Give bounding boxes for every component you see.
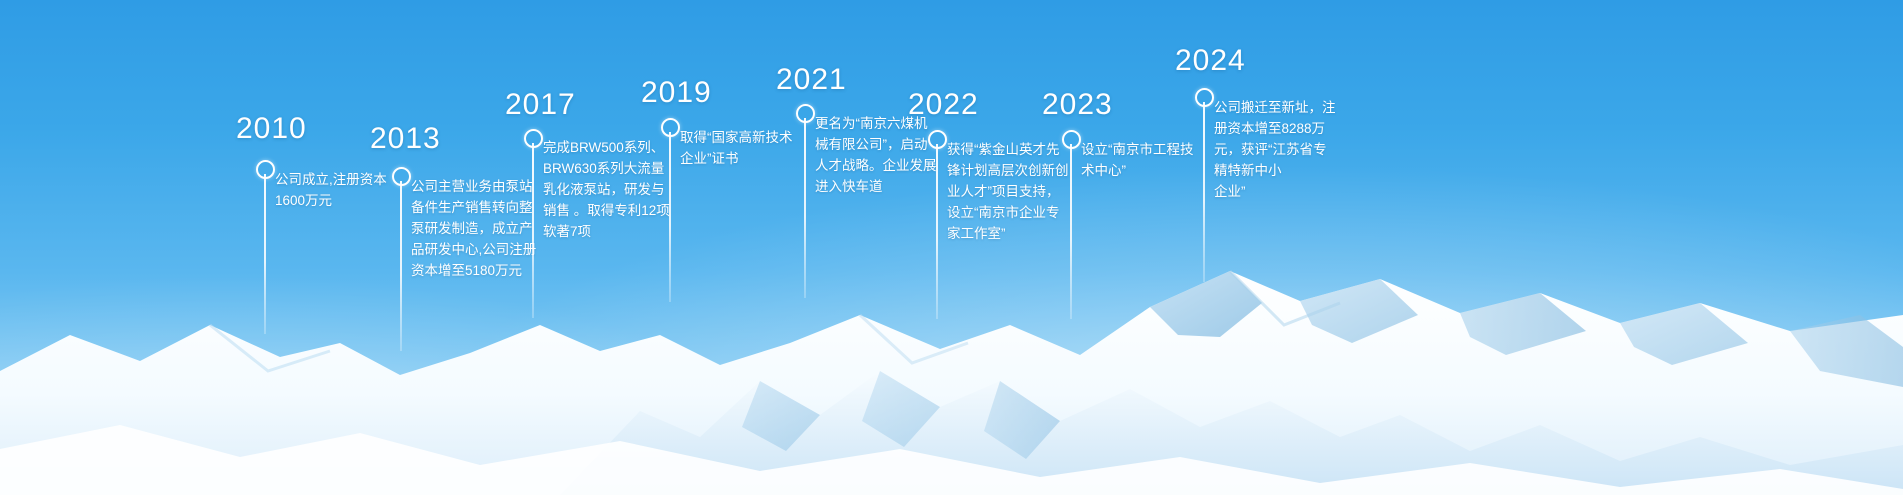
timeline-stem-line — [1070, 144, 1072, 319]
timeline-node-circle-icon[interactable] — [392, 167, 411, 186]
timeline-node-circle-icon[interactable] — [256, 160, 275, 179]
timeline-infographic: 2010公司成立,注册资本 1600万元2013公司主营业务由泵站 备件生产销售… — [0, 0, 1903, 495]
timeline-description: 取得“国家高新技术 企业”证书 — [680, 127, 810, 169]
timeline-year-label: 2017 — [505, 88, 576, 122]
timeline-description: 公司搬迁至新址，注 册资本增至8288万 元，获评“江苏省专 精特新中小 企业” — [1214, 97, 1354, 202]
timeline-year-label: 2022 — [908, 88, 979, 122]
timeline-description: 设立“南京市工程技 术中心” — [1081, 139, 1221, 181]
timeline-description: 公司成立,注册资本 1600万元 — [275, 169, 405, 211]
timeline-stem-line — [1203, 102, 1205, 282]
timeline-description: 获得“紫金山英才先 锋计划高层次创新创 业人才”项目支持， 设立“南京市企业专 … — [947, 139, 1087, 244]
timeline-stem-line — [669, 132, 671, 302]
timeline-node-circle-icon[interactable] — [1062, 130, 1081, 149]
timeline-node-circle-icon[interactable] — [928, 130, 947, 149]
timeline-description: 完成BRW500系列、 BRW630系列大流量 乳化液泵站，研发与 销售 。取得… — [543, 137, 683, 242]
timeline-stem-line — [400, 181, 402, 351]
timeline-node-circle-icon[interactable] — [1195, 88, 1214, 107]
timeline-year-label: 2024 — [1175, 44, 1246, 78]
timeline-stem-line — [264, 174, 266, 334]
timeline-year-label: 2013 — [370, 122, 441, 156]
timeline-node-circle-icon[interactable] — [661, 118, 680, 137]
timeline-stem-line — [804, 118, 806, 298]
timeline-description: 更名为“南京六煤机 械有限公司”，启动 人才战略。企业发展 进入快车道 — [815, 113, 950, 197]
timeline-year-label: 2010 — [236, 112, 307, 146]
timeline-year-label: 2019 — [641, 76, 712, 110]
timeline-node-circle-icon[interactable] — [796, 104, 815, 123]
timeline-year-label: 2023 — [1042, 88, 1113, 122]
timeline-stem-line — [936, 144, 938, 319]
timeline-year-label: 2021 — [776, 63, 847, 97]
timeline-description: 公司主营业务由泵站 备件生产销售转向整 泵研发制造，成立产 品研发中心,公司注册… — [411, 176, 546, 281]
timeline-node-circle-icon[interactable] — [524, 129, 543, 148]
timeline-stem-line — [532, 143, 534, 318]
